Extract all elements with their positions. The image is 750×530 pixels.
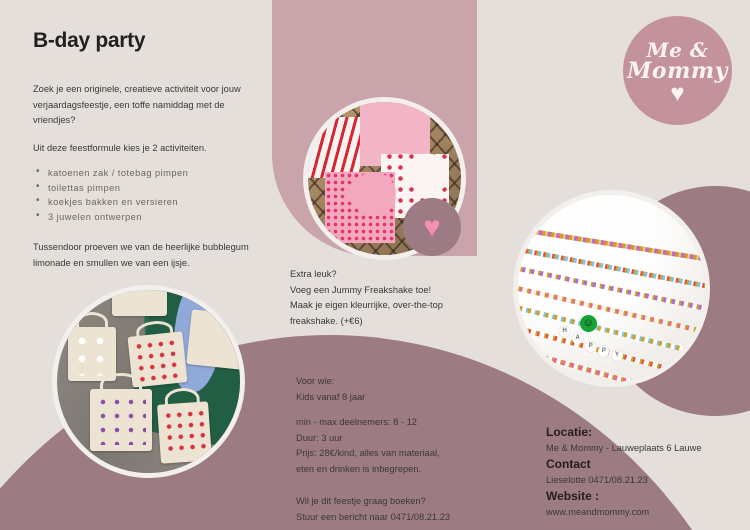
website-value: www.meandmommy.com (546, 505, 746, 520)
audience-label: Voor wie: (296, 374, 496, 390)
list-item: koekjes bakken en versieren (48, 195, 288, 210)
booking-line-2: Stuur een bericht naar 0471/08.21.23 (296, 510, 506, 526)
audience-value: Kids vanaf 8 jaar (296, 390, 496, 406)
totebags-photo-inner (57, 290, 240, 473)
booking-block: Wil je dit feestje graag boeken? Stuur e… (296, 494, 506, 525)
extra-line-1: Voeg een Jummy Freakshake toe! (290, 283, 490, 299)
participants-line: min - max deelnemers: 8 - 12 (296, 415, 496, 431)
smiley-bead-icon: ☺ (580, 315, 597, 332)
duration-line: Duur: 3 uur (296, 431, 496, 447)
snacks-paragraph: Tussendoor proeven we van de heerlijke b… (33, 240, 255, 271)
contact-label: Contact (546, 456, 746, 473)
bracelet-strand (513, 225, 710, 264)
extra-line-2: Maak je eigen kleurrijke, over-the-top (290, 298, 490, 314)
extra-line-3: freakshake. (+€6) (290, 314, 490, 330)
bracelet-strand (513, 244, 710, 292)
totebags-photo (52, 285, 245, 478)
price-block: Prijs: 28€/kind, alles van materiaal, et… (296, 446, 501, 477)
brand-logo: Me & Mommy ♥ (623, 16, 732, 125)
tote-bag (90, 389, 152, 451)
price-line-1: Prijs: 28€/kind, alles van materiaal, (296, 446, 501, 462)
contact-block: Locatie: Me & Mommy - Lauweplaats 6 Lauw… (546, 424, 746, 520)
cookie-stripes (303, 117, 360, 178)
bracelets-photo: H A P P Y ☺ (513, 190, 710, 387)
location-label: Locatie: (546, 424, 746, 441)
tote-bag (112, 285, 167, 316)
heart-badge: ♥ (403, 198, 461, 256)
cookie-red-striped (303, 117, 360, 178)
activities-list: katoenen zak / totebag pimpen toilettas … (33, 166, 288, 224)
extra-block: Extra leuk? Voeg een Jummy Freakshake to… (290, 267, 490, 329)
tote-bag (68, 327, 116, 382)
logo-heart-icon: ♥ (670, 82, 684, 106)
audience-block: Voor wie: Kids vanaf 8 jaar (296, 374, 496, 405)
booking-line-1: Wil je dit feestje graag boeken? (296, 494, 506, 510)
price-line-2: eten en drinken is inbegrepen. (296, 462, 501, 478)
letter-bead-y: Y (612, 350, 623, 361)
cookie-pearl-edge (325, 172, 395, 242)
website-label: Website : (546, 488, 746, 505)
tote-bag (157, 402, 212, 464)
list-item: toilettas pimpen (48, 181, 288, 196)
location-value: Me & Mommy - Lauweplaats 6 Lauwe (546, 441, 746, 456)
letter-bead-h: H (559, 326, 570, 337)
list-item: katoenen zak / totebag pimpen (48, 166, 288, 181)
page-title: B-day party (33, 29, 145, 53)
heart-icon: ♥ (423, 214, 440, 243)
tote-bag (186, 309, 245, 369)
letter-bead-p2: P (598, 346, 609, 357)
bracelets-photo-inner: H A P P Y ☺ (518, 195, 705, 382)
extra-title: Extra leuk? (290, 267, 490, 283)
flyer-page: ♥ H A P P Y ☺ (0, 0, 750, 530)
intro-paragraph: Zoek je een originele, creatieve activit… (33, 82, 258, 129)
formula-paragraph: Uit deze feestformule kies je 2 activite… (33, 141, 268, 157)
list-item: 3 juwelen ontwerpen (48, 210, 288, 225)
cookie-big-pink (325, 172, 395, 242)
pricing-block: min - max deelnemers: 8 - 12 Duur: 3 uur (296, 415, 496, 446)
contact-value: Lieselotte 0471/08.21.23 (546, 473, 746, 488)
